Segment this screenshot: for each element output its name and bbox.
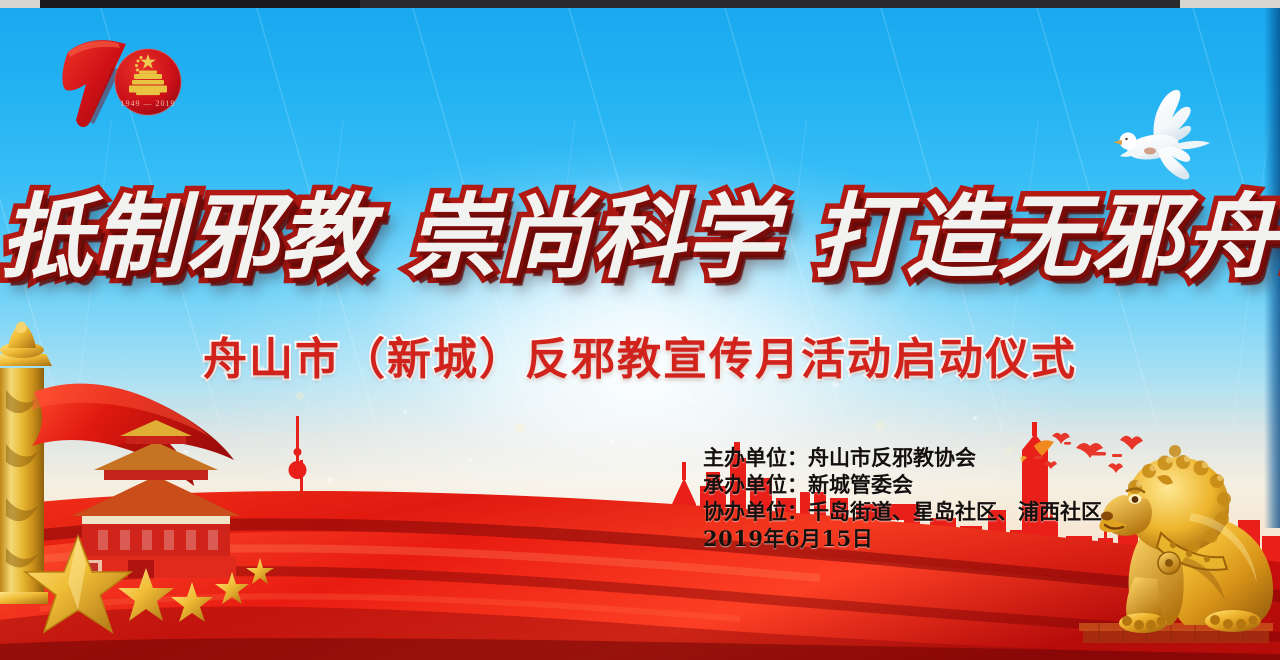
- headline-segment-2: 崇尚科学: [406, 186, 778, 290]
- headline-segment-3: 打造无邪舟山: [812, 186, 1280, 290]
- credits-block: 主办单位：舟山市反邪教协会 承办单位：新城管委会 协办单位：千岛街道、星岛社区、…: [703, 444, 1102, 552]
- anniversary-years-label: 1949 — 2019: [121, 99, 176, 108]
- headline-segment-1: 抵制邪教: [0, 186, 372, 290]
- subtitle-text: 舟山市（新城）反邪教宣传月活动启动仪式: [203, 334, 1077, 385]
- banner-headline: 抵制邪教崇尚科学打造无邪舟山: [0, 186, 1280, 290]
- credit-organizer: 承办单位：新城管委会: [703, 471, 1102, 498]
- banner-subtitle: 舟山市（新城）反邪教宣传月活动启动仪式: [0, 334, 1280, 386]
- credit-coorganizer: 协办单位：千岛街道、星岛社区、浦西社区: [703, 498, 1102, 525]
- credit-date: 2019年6月15日: [703, 525, 1102, 552]
- credit-host: 主办单位：舟山市反邪教协会: [703, 444, 1102, 471]
- propaganda-banner: 1949 — 2019 抵制邪教崇尚科学打造无邪舟山 舟山市（新城）反邪教宣传月…: [0, 0, 1280, 660]
- anniversary-70-logo: 1949 — 2019: [56, 30, 196, 140]
- white-dove-icon: [1098, 84, 1218, 194]
